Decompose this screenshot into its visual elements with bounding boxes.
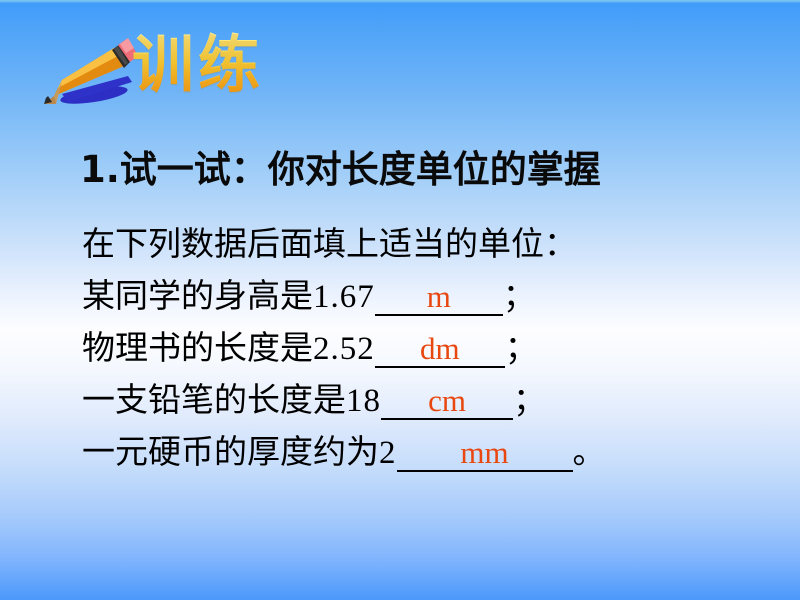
question-prompt: 物理书的长度是 bbox=[82, 328, 313, 367]
answer-text: m bbox=[427, 279, 451, 314]
answer-text: cm bbox=[428, 383, 466, 418]
instruction-line: 在下列数据后面填上适当的单位： bbox=[82, 218, 606, 270]
line-terminator: ； bbox=[503, 276, 536, 315]
instruction-text: 在下列数据后面填上适当的单位： bbox=[82, 224, 577, 263]
page-title: 1.试一试：你对长度单位的掌握 bbox=[80, 139, 601, 193]
question-value: 1.67 bbox=[313, 279, 375, 315]
slide-canvas: 训练 1.试一试：你对长度单位的掌握 在下列数据后面填上适当的单位： 某同学的身… bbox=[0, 0, 800, 600]
question-prompt: 一支铅笔的长度是 bbox=[82, 380, 346, 419]
slide-top-border bbox=[0, 0, 800, 3]
question-line-3: 一支铅笔的长度是18cm； bbox=[82, 374, 606, 426]
question-line-2: 物理书的长度是2.52dm； bbox=[82, 322, 606, 374]
answer-blank-3[interactable]: cm bbox=[381, 384, 513, 420]
question-value: 2.52 bbox=[313, 331, 375, 367]
question-line-4: 一元硬币的厚度约为2mm。 bbox=[82, 426, 606, 478]
answer-blank-1[interactable]: m bbox=[375, 280, 503, 316]
answer-blank-4[interactable]: mm bbox=[397, 436, 573, 472]
question-prompt: 某同学的身高是 bbox=[82, 276, 313, 315]
question-value: 18 bbox=[346, 383, 381, 419]
answer-blank-2[interactable]: dm bbox=[375, 332, 505, 368]
question-value: 2 bbox=[379, 435, 397, 471]
exercise-body: 在下列数据后面填上适当的单位： 某同学的身高是1.67m； 物理书的长度是2.5… bbox=[82, 218, 606, 478]
question-line-1: 某同学的身高是1.67m； bbox=[82, 270, 606, 322]
line-terminator: 。 bbox=[573, 432, 606, 471]
line-terminator: ； bbox=[505, 328, 538, 367]
slide-header: 训练 bbox=[22, 24, 322, 114]
slide-title: 训练 bbox=[132, 22, 264, 108]
line-terminator: ； bbox=[513, 380, 546, 419]
answer-text: dm bbox=[420, 331, 460, 366]
question-prompt: 一元硬币的厚度约为 bbox=[82, 432, 379, 471]
pencil-icon bbox=[32, 32, 140, 108]
answer-text: mm bbox=[460, 435, 508, 470]
